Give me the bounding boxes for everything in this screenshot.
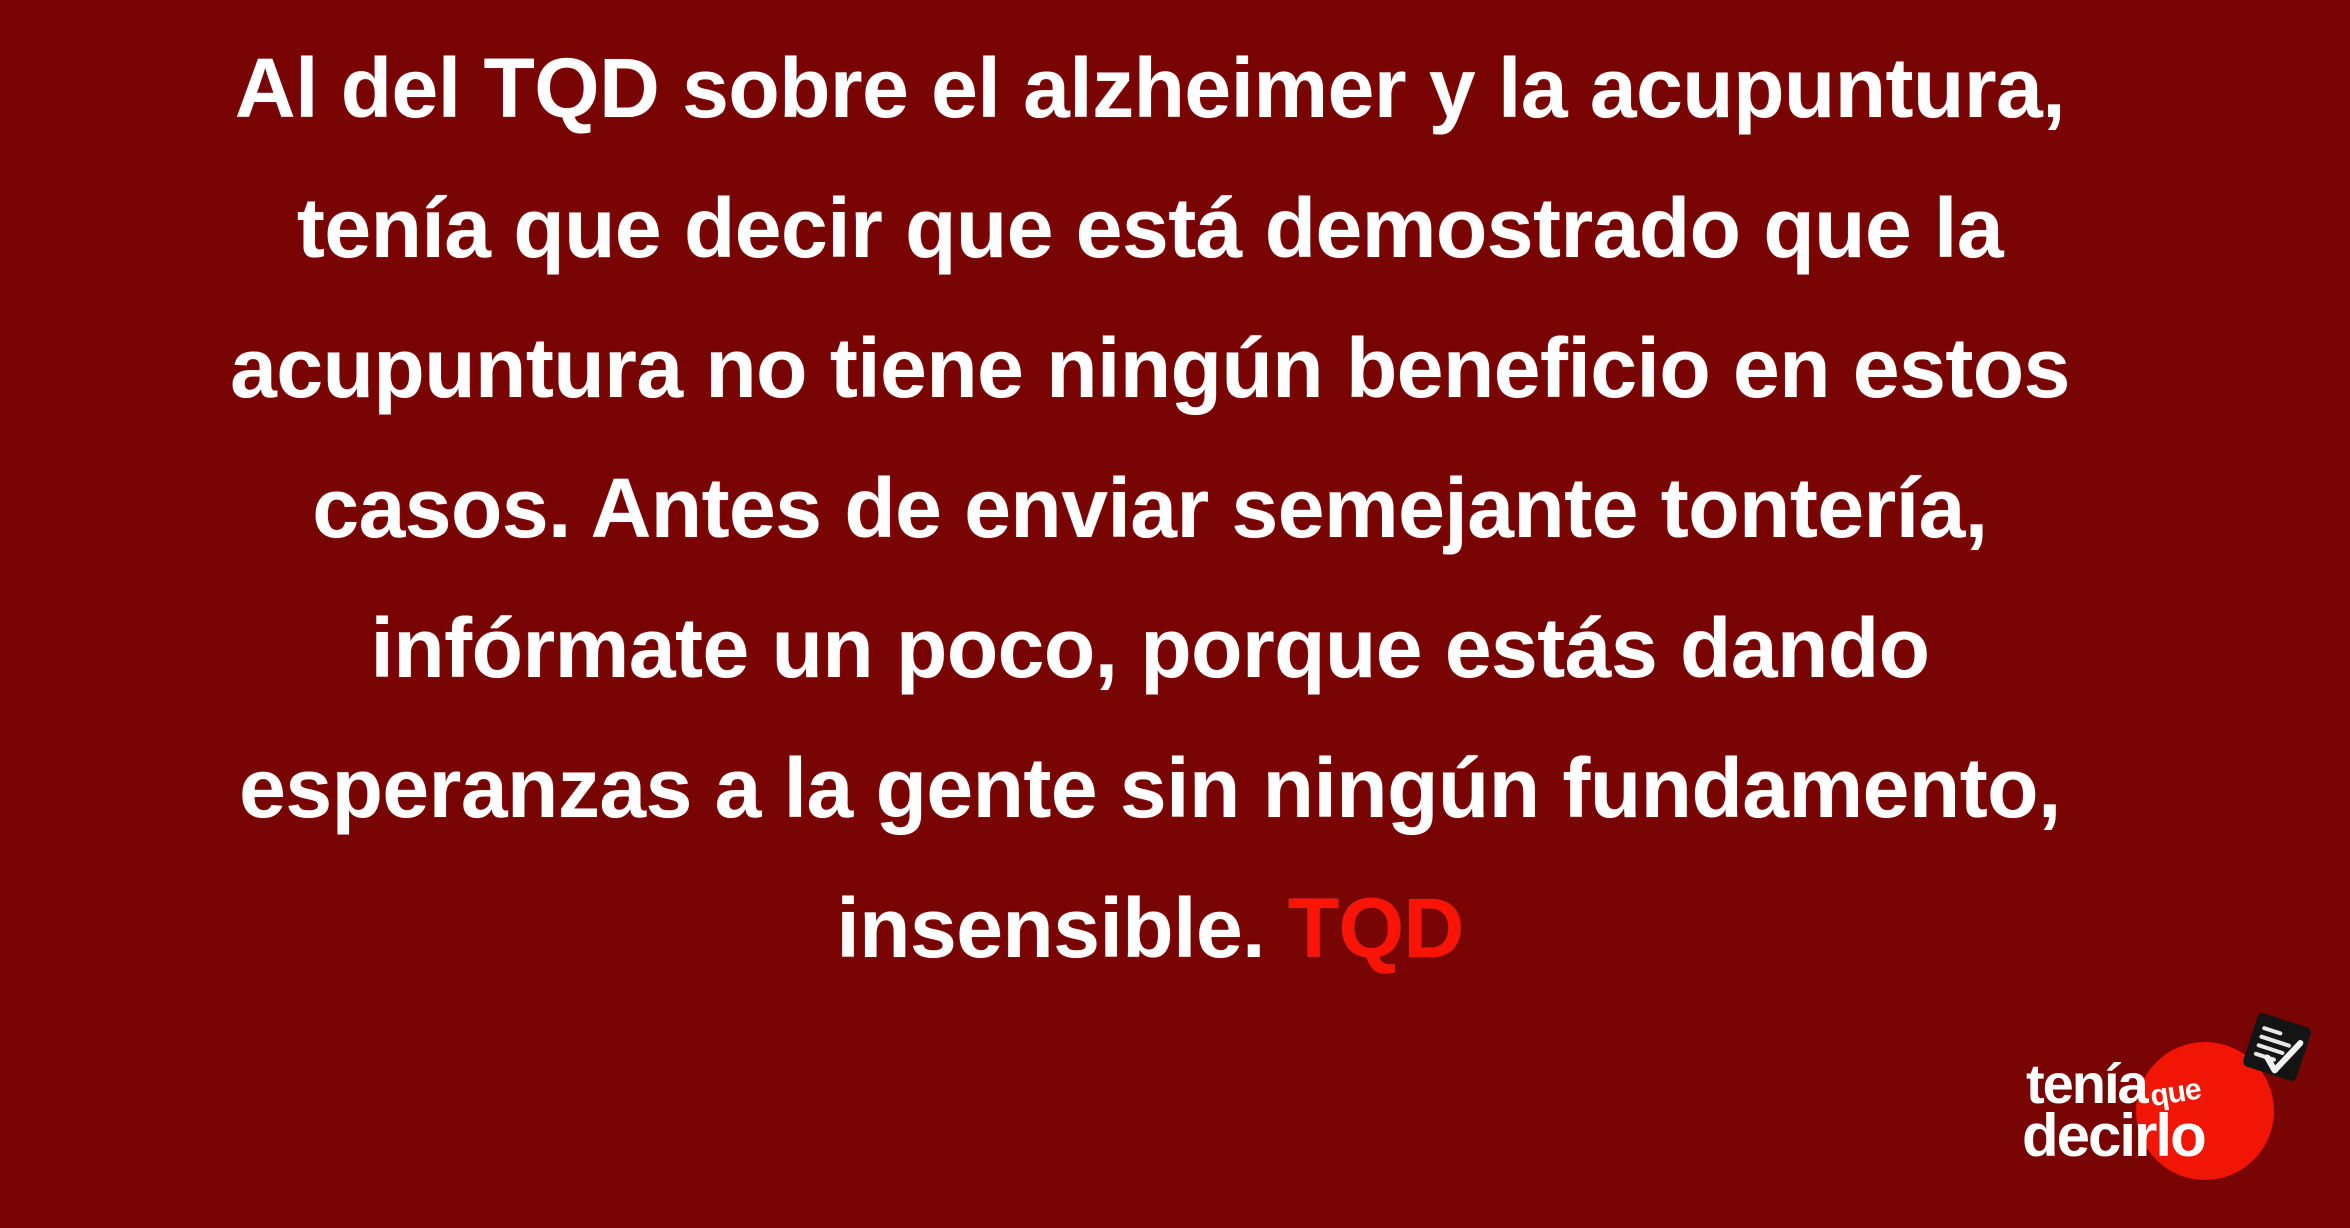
- quote-line-1: Al del TQD sobre el alzheimer y la acupu…: [150, 18, 2150, 158]
- quote-line-5: infórmate un poco, porque estás dando: [150, 578, 2150, 718]
- tqd-logo[interactable]: tenía que decirlo: [2018, 1030, 2318, 1210]
- tqd-signature: TQD: [1288, 881, 1464, 975]
- quote-line-7-text: insensible.: [836, 881, 1288, 975]
- tqd-quote-card: Al del TQD sobre el alzheimer y la acupu…: [0, 0, 2350, 1228]
- quote-line-6: esperanzas a la gente sin ningún fundame…: [150, 718, 2150, 858]
- quote-text-block: Al del TQD sobre el alzheimer y la acupu…: [150, 18, 2150, 998]
- quote-line-2: tenía que decir que está demostrado que …: [150, 158, 2150, 298]
- logo-word-decirlo: decirlo: [2022, 1106, 2205, 1166]
- quote-line-3: acupuntura no tiene ningún beneficio en …: [150, 298, 2150, 438]
- quote-line-7: insensible. TQD: [150, 858, 2150, 998]
- quote-line-4: casos. Antes de enviar semejante tonterí…: [150, 438, 2150, 578]
